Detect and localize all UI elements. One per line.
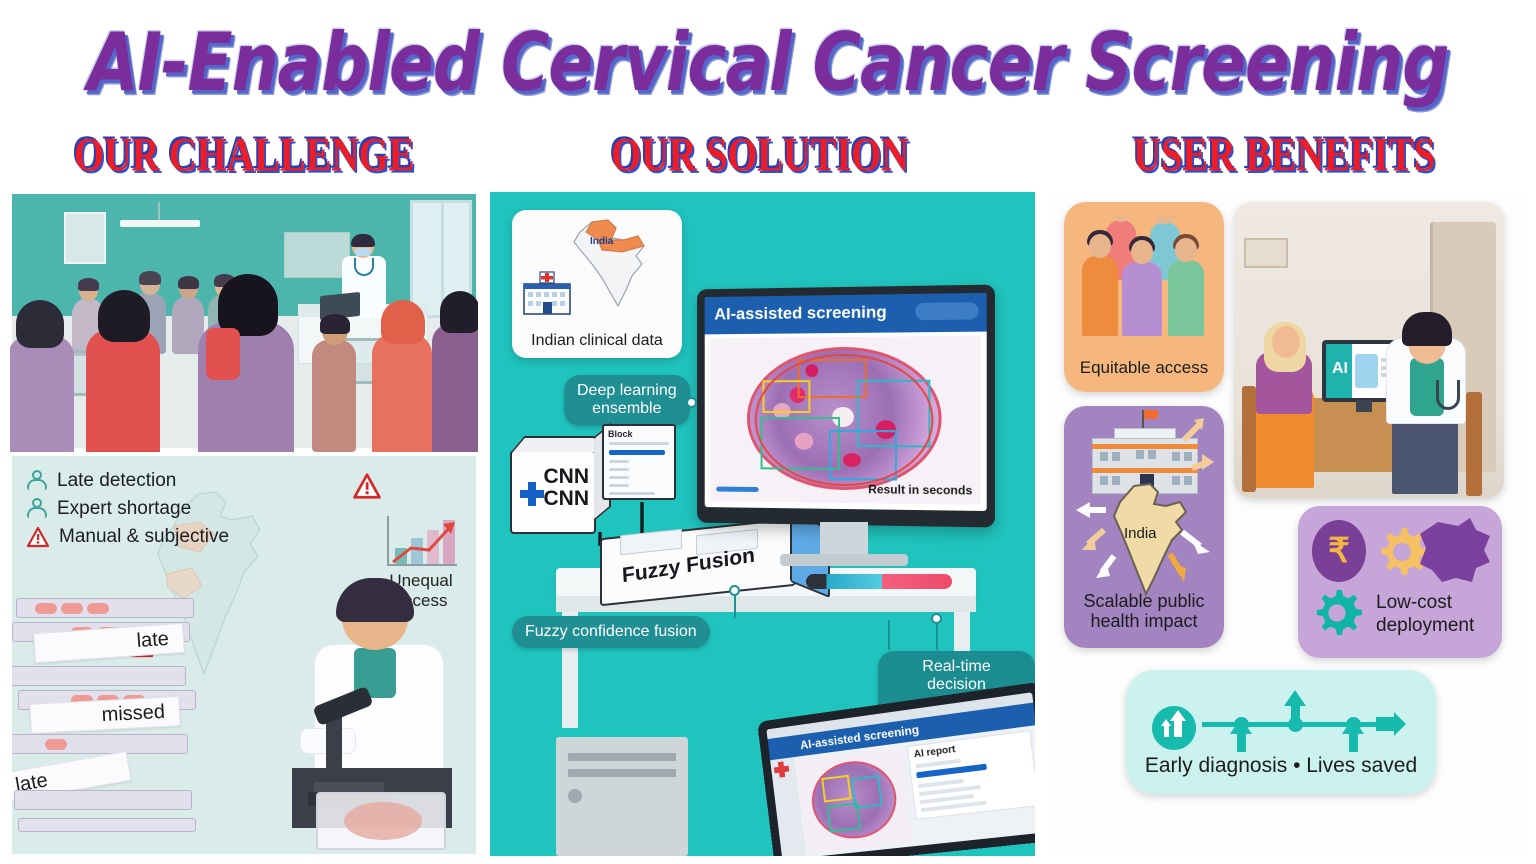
ceiling-light-icon — [120, 220, 200, 227]
svg-text:India: India — [590, 236, 614, 247]
ai-report-title: AI report — [913, 744, 956, 760]
microscope-technician — [292, 578, 452, 828]
pill-deep-learning-ensemble[interactable]: Deep learning ensemble — [564, 375, 690, 426]
cnn-model-cube: CNN CNN — [510, 450, 596, 534]
indian-clinical-data-card: India Indian clinical data — [512, 210, 682, 358]
scalable-line1: Scalable public — [1064, 591, 1224, 612]
benefit-card-equitable-access[interactable]: Equitable access — [1064, 202, 1224, 392]
gear-icon-teal — [1312, 588, 1362, 638]
ai-report-panel: AI report — [907, 730, 1035, 820]
scalable-line2: health impact — [1064, 611, 1224, 632]
benefit-card-scalable-impact[interactable]: India Scalable public health impact — [1064, 406, 1224, 648]
lowcost-line1: Low-cost — [1376, 592, 1496, 615]
cnn-line2: CNN — [544, 488, 590, 510]
tablet-screen: AI-assisted screening AI report — [766, 692, 1035, 856]
blue-plus-icon — [520, 482, 544, 506]
monitor-title: AI-assisted screening — [714, 302, 886, 324]
patient-crowd — [12, 278, 478, 452]
people-icon — [26, 498, 48, 520]
bullet-late-detection: Late detection — [26, 470, 229, 492]
rupee-symbol: ₹ — [1328, 531, 1350, 571]
header-cell-solution: OUR SOLUTION — [488, 125, 1033, 183]
hospital-icon — [520, 270, 574, 316]
slide-tray-stack: late missed late — [10, 574, 238, 854]
equitable-access-label: Equitable access — [1064, 358, 1224, 378]
detection-outline-red — [755, 353, 933, 487]
monitor-ai-text: AI — [1332, 360, 1348, 378]
pill-line2: ensemble — [577, 400, 677, 418]
progress-bar — [716, 487, 758, 492]
section-header-benefits: USER BENEFITS — [1134, 126, 1436, 181]
pill-line1: Deep learning — [577, 382, 677, 400]
header-cell-challenge: OUR CHALLENGE — [0, 125, 488, 183]
petri-dish — [316, 792, 446, 850]
bar-chart-rising-icon — [381, 514, 461, 570]
histology-image: Result in seconds — [710, 336, 980, 505]
monitor-footer-text: Result in seconds — [868, 482, 972, 497]
header-cell-benefits: USER BENEFITS — [1033, 125, 1536, 183]
women-group-illustration — [1078, 216, 1210, 336]
slide-paper-missed: missed — [29, 696, 180, 734]
timeline-icon — [1152, 696, 1410, 754]
bullet-label: Expert shortage — [57, 498, 191, 520]
monitor: AI-assisted screening — [693, 287, 993, 525]
sample-tube — [806, 574, 952, 589]
pill-line1: Fuzzy confidence fusion — [525, 623, 697, 640]
pc-tower — [556, 737, 688, 856]
waiting-room-illustration — [10, 192, 478, 450]
connector-line-rt2 — [936, 620, 938, 650]
region-map-icon-purple — [1414, 516, 1492, 586]
warning-triangle-icon-top — [352, 472, 376, 494]
warning-triangle-icon — [26, 526, 50, 548]
benefit-card-lowcost-deployment[interactable]: ₹ Low-cost deployment — [1298, 506, 1502, 658]
title-bar: AI-Enabled Cervical Cancer Screening — [0, 0, 1536, 125]
block-analysis-card: Block — [602, 424, 676, 500]
panels-container: Late detection Expert shortage Manual & … — [0, 192, 1536, 864]
connector-line-rt1 — [888, 620, 890, 650]
consultation-illustration: AI — [1234, 202, 1504, 498]
slide-label: late — [136, 627, 170, 652]
connector-dot-rt — [931, 613, 942, 624]
bullet-label: Late detection — [57, 470, 176, 492]
scalable-impact-label: Scalable public health impact — [1064, 591, 1224, 632]
monitor-screen: AI-assisted screening — [705, 293, 987, 511]
early-diagnosis-label: Early diagnosis • Lives saved — [1126, 754, 1436, 778]
lowcost-label: Low-cost deployment — [1376, 592, 1496, 638]
lowcost-line2: deployment — [1376, 615, 1496, 638]
wall-chart — [284, 232, 350, 278]
panel-challenge: Late detection Expert shortage Manual & … — [10, 192, 478, 856]
indian-clinical-data-label: Indian clinical data — [512, 332, 682, 350]
bullet-manual-subjective: Manual & subjective — [26, 526, 229, 548]
panel-solution: India Indian clinical data Deep learning… — [490, 192, 1035, 856]
monitor-stand — [820, 522, 868, 558]
person-icon — [26, 470, 48, 492]
lab-illustration: Late detection Expert shortage Manual & … — [10, 454, 478, 856]
section-header-solution: OUR SOLUTION — [612, 126, 910, 181]
bullet-expert-shortage: Expert shortage — [26, 498, 229, 520]
connector-dot-monitor — [686, 397, 697, 408]
block-card-title: Block — [608, 429, 633, 439]
monitor-base — [780, 554, 908, 566]
bullet-label: Manual & subjective — [59, 526, 229, 548]
page-title: AI-Enabled Cervical Cancer Screening — [87, 16, 1448, 110]
medical-cross-icon — [772, 760, 791, 779]
rupee-coin-icon: ₹ — [1312, 520, 1366, 582]
arrow-up-circle-icon — [1152, 706, 1196, 750]
arrow-right-icon — [1376, 712, 1406, 738]
challenge-bullets: Late detection Expert shortage Manual & … — [26, 470, 229, 554]
section-headers: OUR CHALLENGE OUR SOLUTION USER BENEFITS — [0, 125, 1536, 183]
tablet-histology-image — [796, 747, 912, 854]
benefit-card-early-diagnosis[interactable]: Early diagnosis • Lives saved — [1126, 670, 1436, 794]
cnn-line1: CNN — [544, 466, 590, 488]
panel-benefits: Equitable access India — [1048, 192, 1526, 856]
connector-dot-ff — [729, 585, 740, 596]
slide-label: missed — [101, 700, 165, 726]
monitor-status-pill — [915, 302, 978, 320]
pill-fuzzy-confidence-fusion[interactable]: Fuzzy confidence fusion — [512, 616, 710, 648]
wall-poster — [64, 212, 106, 264]
cnn-labels: CNN CNN — [544, 466, 590, 510]
monitor-title-bar: AI-assisted screening — [705, 293, 987, 335]
section-header-challenge: OUR CHALLENGE — [74, 126, 414, 181]
benefit-card-consultation: AI — [1234, 202, 1504, 498]
